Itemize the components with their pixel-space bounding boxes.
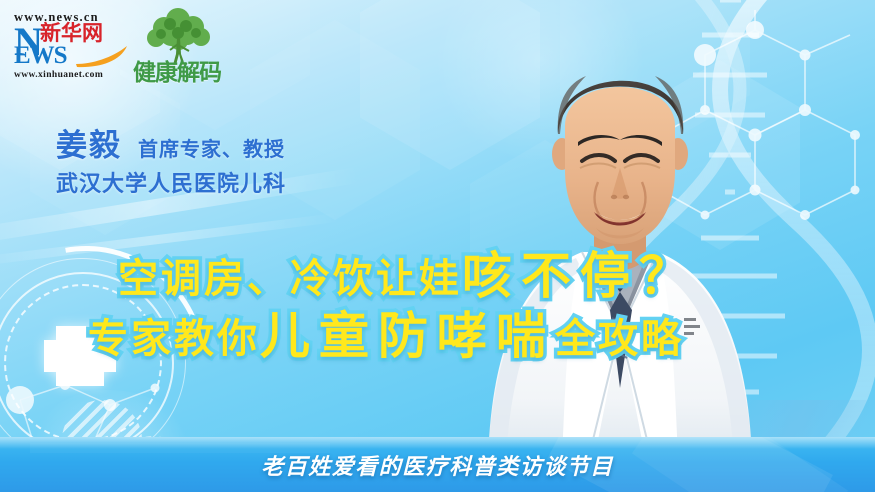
headline-l2-part1: 专家教你 bbox=[88, 314, 260, 364]
guest-name: 姜毅 bbox=[56, 128, 122, 164]
tree-icon bbox=[140, 8, 218, 66]
headline-line-2: 专家教你 儿童防哮喘 全攻略 bbox=[0, 308, 875, 364]
guest-title: 首席专家、教授 bbox=[138, 131, 285, 167]
xinhua-logo[interactable]: www.news.cn N EWS 新华网 www.xinhuanet.com bbox=[14, 10, 118, 84]
bottom-band: 老百姓爱看的医疗科普类访谈节目 bbox=[0, 437, 875, 492]
headline-l1-part3: ？ bbox=[639, 248, 689, 304]
guest-info: 姜毅 首席专家、教授 武汉大学人民医院儿科 bbox=[56, 128, 286, 201]
xinhua-bottom-url: www.xinhuanet.com bbox=[14, 70, 103, 80]
xinhua-word-news: EWS bbox=[14, 44, 67, 68]
headline: 空调房、冷饮让娃 咳不停 ？ 专家教你 儿童防哮喘 全攻略 bbox=[0, 248, 875, 364]
program-tagline: 老百姓爱看的医疗科普类访谈节目 bbox=[0, 437, 875, 492]
guest-affiliation: 武汉大学人民医院儿科 bbox=[56, 169, 286, 201]
headline-line-1: 空调房、冷饮让娃 咳不停 ？ bbox=[0, 248, 875, 304]
headline-l2-part2: 儿童防哮喘 bbox=[260, 308, 555, 364]
headline-l1-part2: 咳不停 bbox=[462, 248, 639, 304]
headline-l2-part3: 全攻略 bbox=[555, 314, 684, 364]
headline-l1-part1: 空调房、冷饮让娃 bbox=[118, 254, 462, 304]
program-title: 健康解码 bbox=[118, 60, 236, 86]
program-logo[interactable]: 健康解码 bbox=[118, 8, 236, 94]
xinhua-chinese-name: 新华网 bbox=[40, 22, 103, 44]
doctor-portrait bbox=[470, 30, 770, 460]
poster-root: www.news.cn N EWS 新华网 www.xinhuanet.com bbox=[0, 0, 875, 492]
